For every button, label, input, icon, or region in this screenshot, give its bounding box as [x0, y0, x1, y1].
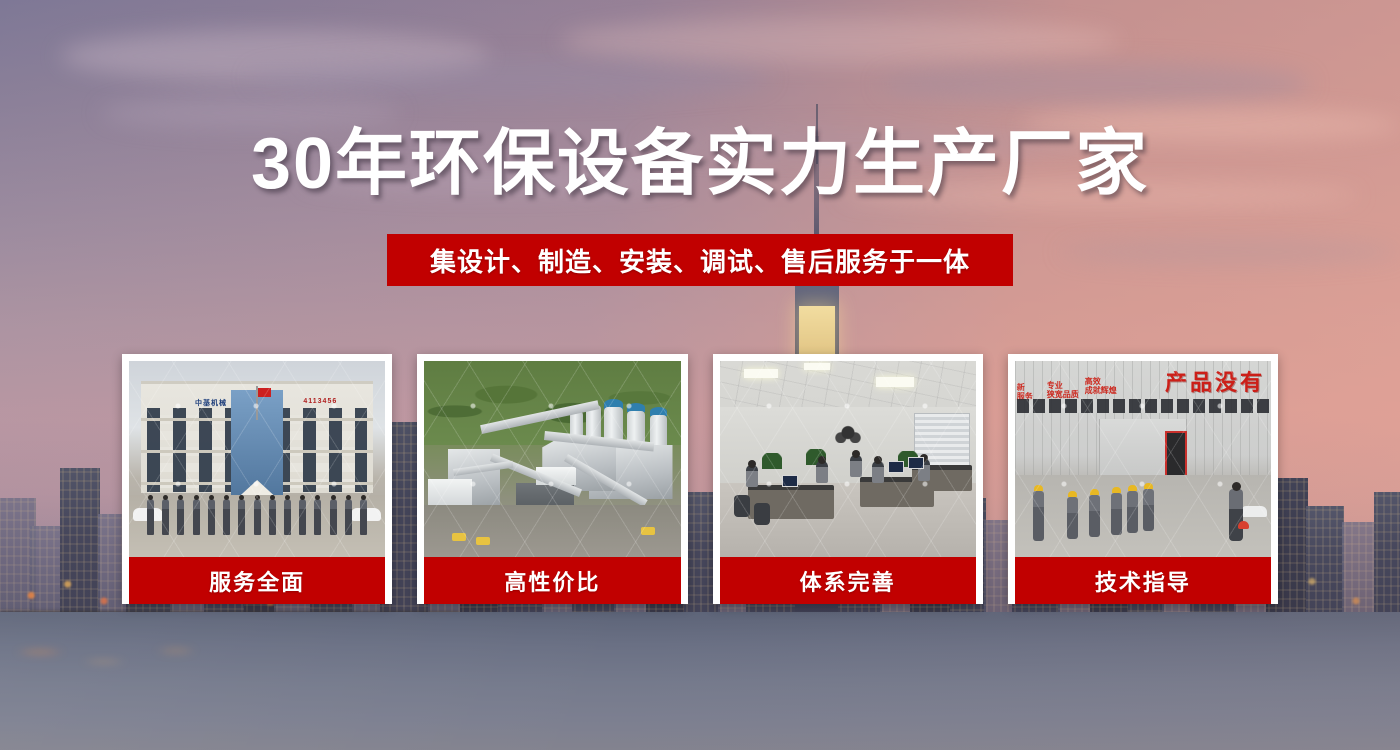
- feature-card[interactable]: 产品没有 新服务 专业狭宽品质 高效成就辉煌: [1008, 354, 1278, 604]
- factory-slogan: 专业狭宽品质: [1047, 381, 1079, 399]
- feature-card[interactable]: 中基机械 4113456 服务全面: [122, 354, 392, 604]
- supervisor: [1229, 489, 1243, 541]
- feature-card[interactable]: 高性价比: [417, 354, 687, 604]
- flag: [256, 386, 258, 420]
- card-caption: 体系完善: [720, 557, 976, 604]
- feature-card[interactable]: 体系完善: [713, 354, 983, 604]
- ceiling: [720, 361, 976, 413]
- office-interior-photo: [720, 361, 976, 557]
- office-building: 中基机械 4113456: [141, 381, 373, 493]
- factory-slogan: 高效成就辉煌: [1085, 377, 1117, 395]
- red-helmet: [1238, 521, 1249, 529]
- wall-decal: [830, 417, 866, 443]
- factory-sign-text: 产品没有: [1165, 365, 1265, 397]
- card-caption: 服务全面: [129, 557, 385, 604]
- company-headquarters-photo: 中基机械 4113456: [129, 361, 385, 557]
- subtitle-text: 集设计、制造、安装、调试、售后服务于一体: [430, 242, 970, 279]
- feature-card-list: 中基机械 4113456 服务全面: [122, 354, 1278, 604]
- factory-windows: [1017, 399, 1269, 413]
- page-title: 30年环保设备实力生产厂家: [0, 128, 1400, 200]
- aerial-production-plant-photo: [424, 361, 680, 557]
- parked-car: [1241, 506, 1267, 517]
- factory-workers-training-photo: 产品没有 新服务 专业狭宽品质 高效成就辉煌: [1015, 361, 1271, 557]
- factory-door: [1165, 431, 1187, 477]
- factory-facade: 产品没有 新服务 专业狭宽品质 高效成就辉煌: [1015, 361, 1271, 479]
- hero-banner: 30年环保设备实力生产厂家 集设计、制造、安装、调试、售后服务于一体 中基机械 …: [0, 0, 1400, 750]
- card-caption: 技术指导: [1015, 557, 1271, 604]
- building-sign-text: 中基机械: [195, 398, 227, 408]
- water-reflection: [0, 640, 400, 700]
- staff-lineup: [147, 499, 367, 535]
- card-caption: 高性价比: [424, 557, 680, 604]
- subtitle-banner: 集设计、制造、安装、调试、售后服务于一体: [387, 234, 1013, 286]
- building-phone-text: 4113456: [303, 398, 337, 405]
